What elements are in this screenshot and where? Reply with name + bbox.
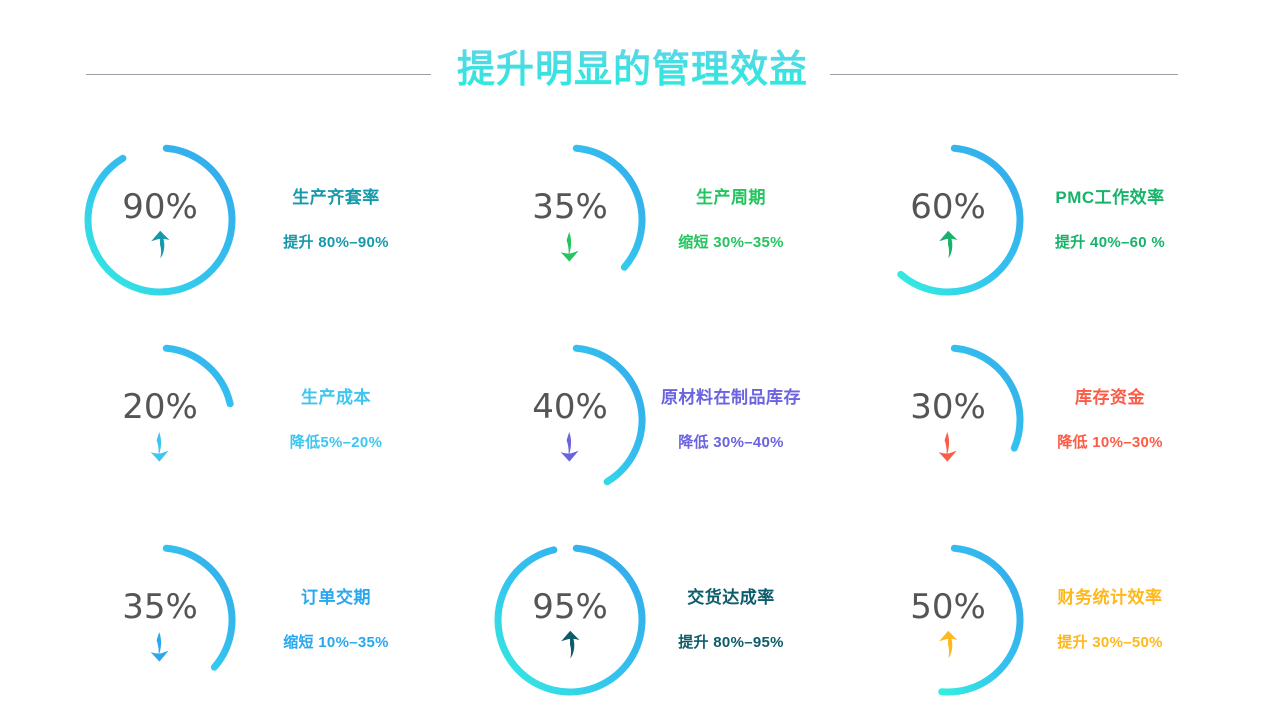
metric-delta: 缩短 30%–35% xyxy=(652,234,810,252)
progress-ring: 30% xyxy=(868,340,1028,500)
gauge-value: 50% xyxy=(868,590,1028,624)
page-header: 提升明显的管理效益 xyxy=(0,44,1264,102)
metric-labels: 库存资金降低 10%–30% xyxy=(1028,388,1208,452)
metric-delta: 提升 80%–90% xyxy=(242,234,430,252)
metric-labels: 订单交期缩短 10%–35% xyxy=(240,588,448,652)
metric-labels: 生产齐套率提升 80%–90% xyxy=(240,188,448,252)
metric-card[interactable]: 40%原材料在制品库存降低 30%–40% xyxy=(448,320,828,520)
metric-title: 财务统计效率 xyxy=(1030,588,1190,608)
metric-card[interactable]: 95%交货达成率提升 80%–95% xyxy=(448,520,828,720)
metric-labels: 生产成本降低5%–20% xyxy=(240,388,448,452)
gauge-value: 35% xyxy=(80,590,240,624)
metric-delta: 降低5%–20% xyxy=(242,434,430,452)
arrow-up-icon xyxy=(868,630,1028,664)
arrow-up-icon xyxy=(868,230,1028,264)
progress-ring: 95% xyxy=(490,540,650,700)
metric-labels: 交货达成率提升 80%–95% xyxy=(650,588,828,652)
gauge-value: 35% xyxy=(490,190,650,224)
progress-ring: 20% xyxy=(80,340,240,500)
header-rule-left xyxy=(86,74,431,75)
arrow-down-icon xyxy=(80,630,240,664)
page-title: 提升明显的管理效益 xyxy=(457,48,808,98)
progress-ring: 35% xyxy=(80,540,240,700)
metric-title: 原材料在制品库存 xyxy=(652,388,810,408)
progress-ring: 35% xyxy=(490,140,650,300)
metrics-grid: 90%生产齐套率提升 80%–90%35%生产周期缩短 30%–35%60%PM… xyxy=(68,120,1208,720)
progress-ring: 60% xyxy=(868,140,1028,300)
metric-delta: 缩短 10%–35% xyxy=(242,634,430,652)
progress-ring: 90% xyxy=(80,140,240,300)
metric-title: 生产周期 xyxy=(652,188,810,208)
metric-delta: 提升 80%–95% xyxy=(652,634,810,652)
arrow-down-icon xyxy=(490,230,650,264)
arrow-up-icon xyxy=(490,630,650,664)
arrow-down-icon xyxy=(80,430,240,464)
metric-delta: 提升 30%–50% xyxy=(1030,634,1190,652)
metric-labels: 原材料在制品库存降低 30%–40% xyxy=(650,388,828,452)
metric-delta: 提升 40%–60 % xyxy=(1030,234,1190,252)
header-rule-right xyxy=(830,74,1178,75)
metric-title: 库存资金 xyxy=(1030,388,1190,408)
metric-title: 订单交期 xyxy=(242,588,430,608)
metric-card[interactable]: 50%财务统计效率提升 30%–50% xyxy=(828,520,1208,720)
arrow-down-icon xyxy=(490,430,650,464)
metric-title: 生产齐套率 xyxy=(242,188,430,208)
metric-card[interactable]: 30%库存资金降低 10%–30% xyxy=(828,320,1208,520)
metric-card[interactable]: 90%生产齐套率提升 80%–90% xyxy=(68,120,448,320)
gauge-value: 40% xyxy=(490,390,650,424)
progress-ring: 40% xyxy=(490,340,650,500)
metric-delta: 降低 30%–40% xyxy=(652,434,810,452)
metric-card[interactable]: 20%生产成本降低5%–20% xyxy=(68,320,448,520)
gauge-value: 60% xyxy=(868,190,1028,224)
metric-title: 生产成本 xyxy=(242,388,430,408)
gauge-value: 95% xyxy=(490,590,650,624)
arrow-down-icon xyxy=(868,430,1028,464)
gauge-value: 90% xyxy=(80,190,240,224)
gauge-value: 20% xyxy=(80,390,240,424)
gauge-value: 30% xyxy=(868,390,1028,424)
progress-ring: 50% xyxy=(868,540,1028,700)
metric-title: PMC工作效率 xyxy=(1030,188,1190,208)
metric-labels: PMC工作效率提升 40%–60 % xyxy=(1028,188,1208,252)
metric-delta: 降低 10%–30% xyxy=(1030,434,1190,452)
metric-labels: 生产周期缩短 30%–35% xyxy=(650,188,828,252)
arrow-up-icon xyxy=(80,230,240,264)
metric-labels: 财务统计效率提升 30%–50% xyxy=(1028,588,1208,652)
metric-card[interactable]: 35%生产周期缩短 30%–35% xyxy=(448,120,828,320)
metric-title: 交货达成率 xyxy=(652,588,810,608)
metric-card[interactable]: 60%PMC工作效率提升 40%–60 % xyxy=(828,120,1208,320)
metric-card[interactable]: 35%订单交期缩短 10%–35% xyxy=(68,520,448,720)
